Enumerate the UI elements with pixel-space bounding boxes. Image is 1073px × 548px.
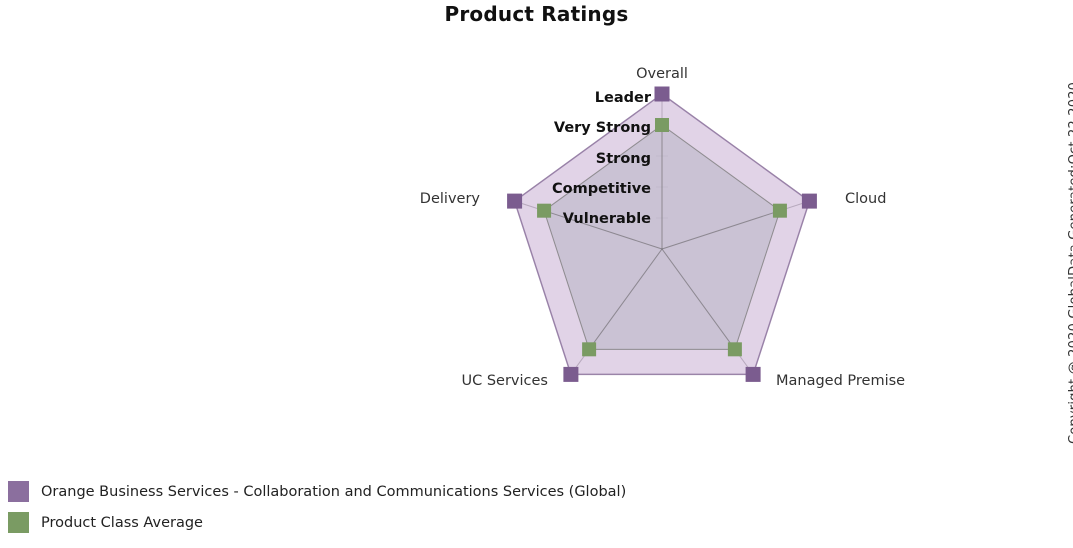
ring-label-very-strong: Very Strong [554,120,651,136]
legend-label-series-2: Product Class Average [41,515,203,531]
radar-chart: OverallCloudManaged PremiseUC ServicesDe… [0,0,1073,470]
copyright-text: Copyright @ 2020 GlobalData Generated:Oc… [1067,82,1073,444]
legend-label-series-1: Orange Business Services - Collaboration… [41,484,626,500]
axis-label-overall: Overall [636,66,688,82]
radar-chart-svg: OverallCloudManaged PremiseUC ServicesDe… [0,0,1073,470]
axis-label-managed-premise: Managed Premise [776,373,905,389]
copyright-notice: Copyright @ 2020 GlobalData Generated:Oc… [1049,40,1071,460]
ring-label-leader: Leader [595,90,652,106]
legend-item[interactable]: Product Class Average [8,507,1008,538]
ring-label-strong: Strong [596,151,651,167]
ring-label-vulnerable: Vulnerable [563,211,651,227]
axis-label-uc-services: UC Services [462,373,549,389]
axis-label-delivery: Delivery [420,191,481,207]
legend-swatch-series-1 [8,481,29,502]
axis-label-cloud: Cloud [845,191,886,207]
ring-label-competitive: Competitive [552,181,651,197]
chart-legend: Orange Business Services - Collaboration… [8,476,1008,538]
legend-swatch-series-2 [8,512,29,533]
legend-item[interactable]: Orange Business Services - Collaboration… [8,476,1008,507]
